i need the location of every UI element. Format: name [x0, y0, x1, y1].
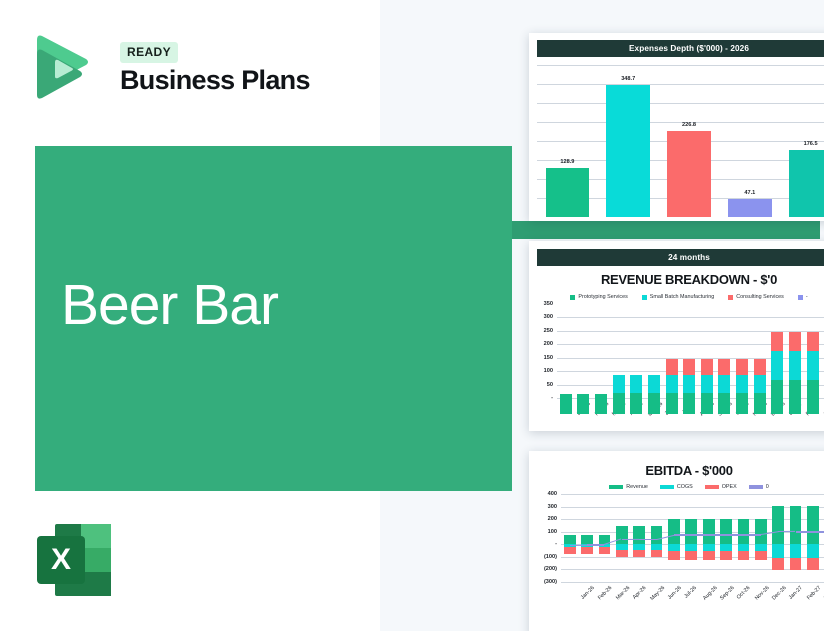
- bar-segment: [718, 393, 730, 414]
- gridline: [537, 103, 824, 104]
- bar-segment: [807, 380, 819, 414]
- bar-segment: [755, 519, 767, 545]
- bar-segment: [807, 351, 819, 379]
- bar-segment: [789, 351, 801, 379]
- y-axis-tick: 100: [535, 529, 557, 535]
- bar-segment: [668, 544, 680, 551]
- legend-item: Revenue: [609, 484, 648, 490]
- bar-segment: [685, 551, 697, 560]
- stacked-bar: [754, 359, 766, 414]
- y-axis-tick: 200: [535, 341, 553, 347]
- chart-legend-ebitda: RevenueCOGSOPEX0: [529, 484, 824, 490]
- chart-plot-expenses: 128.9348.7226.847.1176.5: [537, 65, 824, 217]
- legend-label: Consulting Services: [736, 294, 784, 300]
- gridline: [537, 65, 824, 66]
- trend-line-segment: [726, 534, 743, 535]
- bar-segment: [651, 550, 663, 557]
- legend-swatch: [798, 295, 803, 300]
- x-axis-tick: Jan-26: [580, 585, 596, 601]
- stacked-bar: [648, 375, 660, 414]
- y-axis-tick: 50: [535, 382, 553, 388]
- bar-segment: [807, 558, 819, 570]
- bar-segment: [790, 558, 802, 570]
- bar-value-label: 176.5: [780, 141, 824, 147]
- bar-segment: [772, 558, 784, 570]
- stacked-bar: [630, 375, 642, 414]
- legend-item: -: [798, 294, 808, 300]
- legend-label: Small Batch Manufacturing: [650, 294, 714, 300]
- bar-segment: [633, 526, 645, 544]
- legend-item: COGS: [660, 484, 693, 490]
- bar-segment: [807, 332, 819, 351]
- bar-segment: [738, 551, 750, 560]
- bar-segment: [581, 547, 593, 554]
- x-axis-tick: Oct-26: [736, 585, 752, 601]
- bar-segment: [616, 550, 628, 557]
- y-axis-tick: 350: [535, 301, 553, 307]
- legend-label: -: [806, 294, 808, 300]
- bar-value-label: 226.8: [659, 122, 720, 128]
- chart-title-expenses: Expenses Depth ($'000) - 2026: [537, 40, 824, 57]
- gridline: [557, 331, 824, 332]
- gridline: [537, 84, 824, 85]
- bar-segment: [771, 332, 783, 351]
- y-axis-tick: 300: [535, 314, 553, 320]
- bar-segment: [613, 393, 625, 414]
- bar-value-label: 348.7: [598, 76, 659, 82]
- bar-segment: [718, 359, 730, 375]
- x-axis-tick: Jul-26: [683, 585, 698, 600]
- chart-card-revenue: 24 months REVENUE BREAKDOWN - $'0 Protot…: [529, 241, 824, 431]
- ready-badge: READY: [120, 42, 178, 63]
- bar-segment: [683, 375, 695, 394]
- legend-swatch: [749, 485, 763, 489]
- legend-label: Revenue: [626, 484, 648, 490]
- x-axis-tick: Jan-27: [788, 585, 804, 601]
- y-axis-tick: 150: [535, 355, 553, 361]
- stacked-bar: [736, 359, 748, 414]
- trend-line-segment: [587, 544, 604, 545]
- y-axis-tick: 200: [535, 516, 557, 522]
- bar: [606, 85, 650, 218]
- bar: [546, 168, 590, 217]
- gridline: [557, 317, 824, 318]
- legend-item: Consulting Services: [728, 294, 784, 300]
- y-axis-tick: -: [535, 395, 553, 401]
- bar-segment: [683, 393, 695, 414]
- bar: [789, 150, 824, 217]
- y-axis-tick: 300: [535, 504, 557, 510]
- bar-segment: [577, 394, 589, 414]
- bar-segment: [789, 380, 801, 414]
- x-axis-tick: Nov-26: [754, 585, 771, 602]
- chart-title-ebitda: EBITDA - $'000: [529, 463, 824, 478]
- legend-swatch: [660, 485, 674, 489]
- bar-segment: [754, 359, 766, 375]
- play-triangles-logo-icon: [28, 30, 94, 102]
- chart-title-revenue: REVENUE BREAKDOWN - $'0: [529, 272, 824, 287]
- bar-segment: [718, 375, 730, 394]
- bar-segment: [668, 519, 680, 545]
- stacked-bar: [560, 394, 572, 414]
- trend-line-segment: [622, 538, 639, 540]
- bar-segment: [666, 375, 678, 394]
- bar-segment: [581, 535, 593, 545]
- bar-segment: [613, 375, 625, 393]
- bar: [728, 199, 772, 217]
- stacked-bar: [683, 359, 695, 414]
- stacked-bar: [718, 359, 730, 414]
- legend-swatch: [570, 295, 575, 300]
- legend-swatch: [705, 485, 719, 489]
- x-axis-tick: Feb-26: [597, 585, 613, 601]
- bar-value-label: 128.9: [537, 159, 598, 165]
- bar-segment: [701, 375, 713, 394]
- bar-segment: [616, 526, 628, 544]
- bar-segment: [738, 519, 750, 545]
- bar-segment: [754, 375, 766, 394]
- y-axis-tick: (300): [535, 579, 557, 585]
- bar-segment: [648, 393, 660, 414]
- bar: [667, 131, 711, 217]
- brand-logo: READY Business Plans: [28, 28, 368, 104]
- page-title: Beer Bar: [61, 277, 278, 334]
- legend-label: 0: [766, 484, 769, 490]
- gridline: [557, 344, 824, 345]
- chart-legend-revenue: Prototyping ServicesSmall Batch Manufact…: [529, 294, 824, 300]
- gridline: [561, 507, 824, 508]
- bar-segment: [720, 519, 732, 545]
- legend-item: OPEX: [705, 484, 737, 490]
- legend-item: 0: [749, 484, 769, 490]
- x-axis-tick: Mar-26: [615, 585, 631, 601]
- legend-item: Small Batch Manufacturing: [642, 294, 714, 300]
- bar-segment: [720, 551, 732, 560]
- bar-segment: [666, 393, 678, 414]
- bar-segment: [703, 544, 715, 551]
- bar-segment: [599, 547, 611, 554]
- stacked-bar: [807, 332, 819, 414]
- bar-segment: [633, 550, 645, 557]
- gridline: [561, 582, 824, 583]
- x-axis-tick: Aug-26: [702, 585, 719, 602]
- hero-block: Beer Bar: [35, 146, 512, 491]
- legend-swatch: [728, 295, 733, 300]
- stacked-bar: [701, 359, 713, 414]
- chart-card-expenses: Expenses Depth ($'000) - 2026 128.9348.7…: [529, 33, 824, 221]
- bar-segment: [666, 359, 678, 375]
- trend-line-segment: [796, 531, 813, 532]
- bar-segment: [595, 394, 607, 414]
- y-axis-tick: (200): [535, 566, 557, 572]
- slide-canvas: READY Business Plans Beer Bar X: [0, 0, 824, 631]
- bar-segment: [772, 506, 784, 544]
- x-axis-tick: Dec-26: [771, 585, 788, 602]
- bar-segment: [772, 544, 784, 558]
- bar-segment: [564, 535, 576, 544]
- x-axis-tick: May-26: [650, 585, 667, 602]
- legend-item: Prototyping Services: [570, 294, 627, 300]
- trend-line-segment: [709, 534, 726, 535]
- bar-segment: [685, 519, 697, 545]
- gridline: [561, 569, 824, 570]
- y-axis-tick: (100): [535, 554, 557, 560]
- bar-segment: [648, 375, 660, 393]
- bar-segment: [685, 544, 697, 551]
- bar-segment: [755, 551, 767, 560]
- bar-segment: [564, 547, 576, 554]
- trend-line-segment: [674, 534, 691, 535]
- bar-segment: [701, 359, 713, 375]
- x-axis-tick: Apr-26: [632, 585, 648, 601]
- legend-swatch: [609, 485, 623, 489]
- brand-name: Business Plans: [120, 65, 310, 96]
- bar-segment: [789, 332, 801, 351]
- trend-line-segment: [813, 531, 824, 532]
- trend-line-segment: [570, 544, 587, 546]
- trend-line-segment: [691, 534, 708, 535]
- y-axis-tick: -: [535, 541, 557, 547]
- bar-segment: [630, 393, 642, 414]
- bar-segment: [668, 551, 680, 560]
- chart-plot-ebitda: 400300200100-(100)(200)(300)Jan-26Feb-26…: [535, 494, 824, 604]
- stacked-bar: [789, 332, 801, 414]
- bar-segment: [703, 519, 715, 545]
- chart-card-ebitda: EBITDA - $'000 RevenueCOGSOPEX0 40030020…: [529, 451, 824, 631]
- legend-swatch: [642, 295, 647, 300]
- legend-label: Prototyping Services: [578, 294, 627, 300]
- microsoft-excel-icon: X: [33, 520, 115, 600]
- bar-segment: [701, 393, 713, 414]
- bar-segment: [755, 544, 767, 551]
- bar-segment: [736, 359, 748, 375]
- y-axis-tick: 400: [535, 491, 557, 497]
- bar-segment: [683, 359, 695, 375]
- legend-label: COGS: [677, 484, 693, 490]
- stacked-bar: [771, 332, 783, 414]
- bar-segment: [736, 393, 748, 414]
- chart-plot-revenue: 35030025020015010050-Jan-26Feb-26Mar-26A…: [535, 304, 824, 414]
- bar-segment: [790, 544, 802, 558]
- stacked-bar: [577, 394, 589, 414]
- stacked-bar: [595, 394, 607, 414]
- bar-segment: [754, 393, 766, 414]
- trend-line-segment: [743, 534, 760, 535]
- bar-segment: [807, 544, 819, 558]
- x-axis-tick: Jun-26: [667, 585, 683, 601]
- x-axis-tick: Sep-26: [719, 585, 736, 602]
- legend-label: OPEX: [722, 484, 737, 490]
- trend-line-segment: [639, 539, 656, 540]
- bar-segment: [738, 544, 750, 551]
- green-accent-strip: [512, 221, 820, 239]
- bar-segment: [736, 375, 748, 394]
- bar-segment: [771, 351, 783, 379]
- bar-segment: [771, 380, 783, 414]
- stacked-bar: [666, 359, 678, 414]
- bar-value-label: 47.1: [719, 190, 780, 196]
- bar-segment: [720, 544, 732, 551]
- y-axis-tick: 250: [535, 328, 553, 334]
- bar-segment: [560, 394, 572, 414]
- bar-segment: [703, 551, 715, 560]
- bar-segment: [790, 506, 802, 544]
- chart-header-24months: 24 months: [537, 249, 824, 266]
- bar-segment: [651, 526, 663, 544]
- bar-segment: [630, 375, 642, 393]
- y-axis-tick: 100: [535, 368, 553, 374]
- bar-segment: [807, 506, 819, 544]
- stacked-bar: [613, 375, 625, 414]
- x-axis-tick: Feb-27: [806, 585, 822, 601]
- svg-text:X: X: [51, 543, 71, 576]
- gridline: [561, 494, 824, 495]
